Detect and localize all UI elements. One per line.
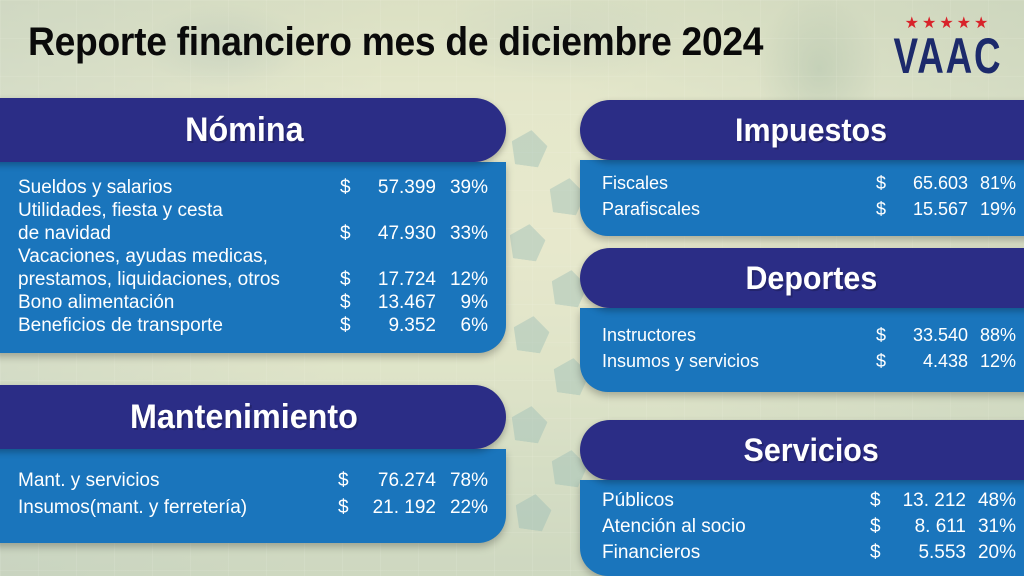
- row-label: Instructores: [602, 322, 696, 348]
- row-amount: 47.930: [358, 222, 436, 245]
- table-row: Fiscales $ 65.603 81%: [602, 170, 1016, 196]
- row-label: Bono alimentación: [18, 291, 174, 314]
- row-currency: $: [870, 514, 888, 540]
- table-row: Vacaciones, ayudas medicas,: [18, 245, 488, 268]
- row-percent: 78%: [436, 467, 488, 494]
- row-label: Atención al socio: [602, 514, 746, 540]
- row-label: Parafiscales: [602, 196, 700, 222]
- panel-header-impuestos: Impuestos: [580, 100, 1024, 160]
- row-percent: 12%: [436, 268, 488, 291]
- row-percent: 12%: [968, 348, 1016, 374]
- row-amount: 65.603: [894, 170, 968, 196]
- row-label: Públicos: [602, 488, 674, 514]
- row-currency: $: [876, 196, 894, 222]
- row-currency: $: [338, 494, 356, 521]
- panel-body-deportes: Instructores $ 33.540 88% Insumos y serv…: [580, 308, 1024, 392]
- row-percent: 88%: [968, 322, 1016, 348]
- row-currency: $: [876, 170, 894, 196]
- row-label: Mant. y servicios: [18, 467, 159, 494]
- row-percent: 22%: [436, 494, 488, 521]
- table-row: Públicos $ 13. 212 48%: [602, 488, 1016, 514]
- row-percent: 81%: [968, 170, 1016, 196]
- row-amount: 57.399: [358, 176, 436, 199]
- table-row: Insumos y servicios $ 4.438 12%: [602, 348, 1016, 374]
- row-amount: 8. 611: [888, 514, 966, 540]
- row-label: Fiscales: [602, 170, 668, 196]
- panel-header-mantenimiento: Mantenimiento: [0, 385, 506, 449]
- page-title: Reporte financiero mes de diciembre 2024: [28, 22, 763, 62]
- panel-title-servicios: Servicios: [743, 432, 878, 469]
- logo: ★★★★★ VAAC: [888, 16, 1008, 71]
- row-percent: 9%: [436, 291, 488, 314]
- panel-header-deportes: Deportes: [580, 248, 1024, 308]
- row-amount: 33.540: [894, 322, 968, 348]
- row-label: Utilidades, fiesta y cesta: [18, 199, 223, 222]
- row-currency: $: [340, 314, 358, 337]
- row-amount: 15.567: [894, 196, 968, 222]
- row-percent: 20%: [966, 540, 1016, 566]
- row-amount: 17.724: [358, 268, 436, 291]
- row-amount: 76.274: [356, 467, 436, 494]
- row-currency: $: [340, 291, 358, 314]
- row-label: Beneficios de transporte: [18, 314, 223, 337]
- table-row: prestamos, liquidaciones, otros $ 17.724…: [18, 268, 488, 291]
- row-amount: 5.553: [888, 540, 966, 566]
- row-currency: $: [870, 540, 888, 566]
- row-percent: 33%: [436, 222, 488, 245]
- panel-header-nomina: Nómina: [0, 98, 506, 162]
- panel-title-impuestos: Impuestos: [735, 112, 887, 149]
- row-currency: $: [876, 322, 894, 348]
- row-label: Vacaciones, ayudas medicas,: [18, 245, 268, 268]
- row-amount: 9.352: [358, 314, 436, 337]
- panel-nomina: Nómina Sueldos y salarios $ 57.399 39% U…: [0, 98, 506, 353]
- table-row: Instructores $ 33.540 88%: [602, 322, 1016, 348]
- row-currency: $: [876, 348, 894, 374]
- table-row: Financieros $ 5.553 20%: [602, 540, 1016, 566]
- row-amount: 13. 212: [888, 488, 966, 514]
- table-row: Parafiscales $ 15.567 19%: [602, 196, 1016, 222]
- logo-wordmark: VAAC: [893, 34, 1003, 80]
- panel-impuestos: Impuestos Fiscales $ 65.603 81% Parafisc…: [580, 100, 1024, 236]
- row-percent: 6%: [436, 314, 488, 337]
- panel-mantenimiento: Mantenimiento Mant. y servicios $ 76.274…: [0, 385, 506, 543]
- panel-body-nomina: Sueldos y salarios $ 57.399 39% Utilidad…: [0, 162, 506, 353]
- panel-header-servicios: Servicios: [580, 420, 1024, 480]
- row-currency: $: [340, 222, 358, 245]
- panel-title-nomina: Nómina: [185, 111, 303, 150]
- row-percent: 48%: [966, 488, 1016, 514]
- row-amount: 4.438: [894, 348, 968, 374]
- row-label: Insumos(mant. y ferretería): [18, 494, 247, 521]
- row-label: Insumos y servicios: [602, 348, 759, 374]
- row-label: Financieros: [602, 540, 700, 566]
- row-amount: 21. 192: [356, 494, 436, 521]
- row-currency: $: [870, 488, 888, 514]
- row-amount: 13.467: [358, 291, 436, 314]
- panel-title-deportes: Deportes: [745, 260, 877, 297]
- panel-servicios: Servicios Públicos $ 13. 212 48% Atenció…: [580, 420, 1024, 576]
- row-label-continued: de navidad: [18, 222, 111, 245]
- panel-body-impuestos: Fiscales $ 65.603 81% Parafiscales $ 15.…: [580, 160, 1024, 236]
- table-row: de navidad $ 47.930 33%: [18, 222, 488, 245]
- table-row: Atención al socio $ 8. 611 31%: [602, 514, 1016, 540]
- panel-body-servicios: Públicos $ 13. 212 48% Atención al socio…: [580, 480, 1024, 576]
- row-currency: $: [338, 467, 356, 494]
- panel-body-mantenimiento: Mant. y servicios $ 76.274 78% Insumos(m…: [0, 449, 506, 543]
- table-row: Utilidades, fiesta y cesta: [18, 199, 488, 222]
- row-percent: 31%: [966, 514, 1016, 540]
- row-percent: 39%: [436, 176, 488, 199]
- row-percent: 19%: [968, 196, 1016, 222]
- row-label: Sueldos y salarios: [18, 176, 172, 199]
- table-row: Sueldos y salarios $ 57.399 39%: [18, 176, 488, 199]
- row-currency: $: [340, 268, 358, 291]
- table-row: Insumos(mant. y ferretería) $ 21. 192 22…: [18, 494, 488, 521]
- panel-title-mantenimiento: Mantenimiento: [130, 398, 358, 437]
- table-row: Beneficios de transporte $ 9.352 6%: [18, 314, 488, 337]
- row-label-continued: prestamos, liquidaciones, otros: [18, 268, 280, 291]
- row-currency: $: [340, 176, 358, 199]
- table-row: Bono alimentación $ 13.467 9%: [18, 291, 488, 314]
- panel-deportes: Deportes Instructores $ 33.540 88% Insum…: [580, 248, 1024, 392]
- table-row: Mant. y servicios $ 76.274 78%: [18, 467, 488, 494]
